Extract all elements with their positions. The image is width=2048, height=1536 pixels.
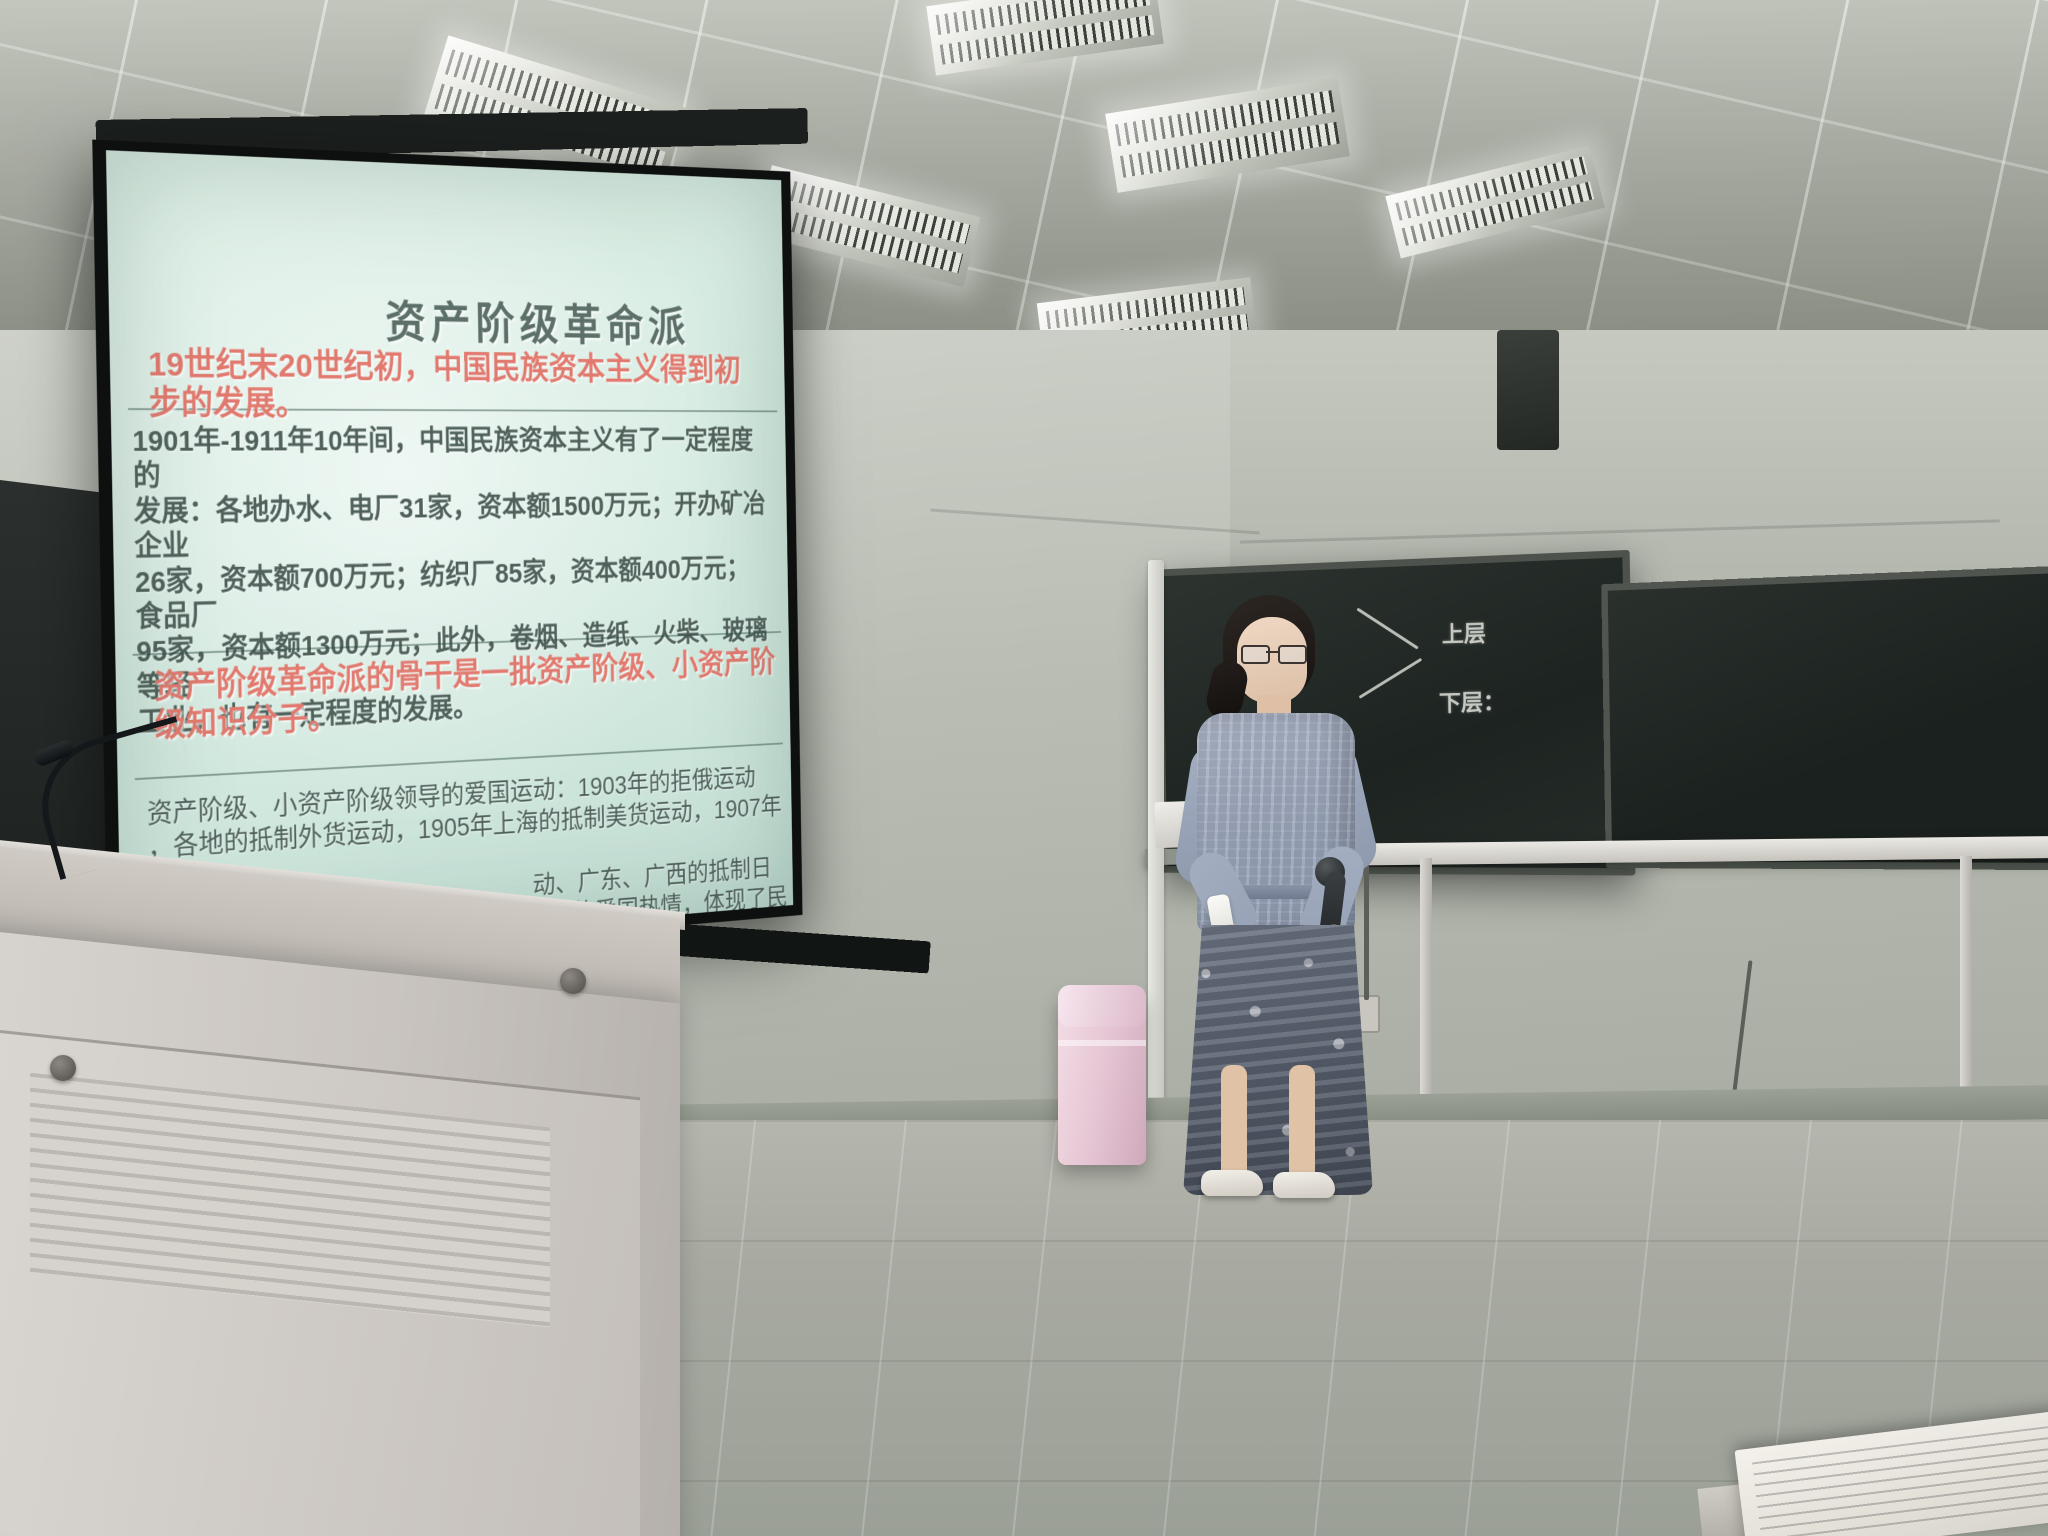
skirt xyxy=(1183,925,1373,1195)
gooseneck-microphone[interactable] xyxy=(40,735,190,855)
stand-pole xyxy=(1148,560,1164,1140)
left-shoe xyxy=(1201,1170,1263,1196)
desk-leg xyxy=(1960,856,1972,1101)
wall-speaker xyxy=(1497,330,1559,450)
slide-content: 资产阶级革命派 19世纪末20世纪初，中国民族资本主义得到初步的发展。 1901… xyxy=(106,150,793,961)
thermos-band xyxy=(1058,1040,1146,1046)
slide-lead-red-text: 19世纪末20世纪初，中国民族资本主义得到初步的发展。 xyxy=(148,346,767,425)
desk-leg xyxy=(1420,858,1432,1108)
classroom-scene: 资产阶级革命派 19世纪末20世纪初，中国民族资本主义得到初步的发展。 1901… xyxy=(0,0,2048,1536)
right-leg xyxy=(1289,1065,1315,1185)
blackboard-chalk-top: 上层 xyxy=(1442,616,1487,650)
blackboard-right xyxy=(1601,565,2048,870)
slide-title: 资产阶级革命派 xyxy=(385,287,691,354)
lectern-knob[interactable] xyxy=(560,968,586,994)
book-text-lines xyxy=(1752,1426,2048,1536)
slide-body-line: 1901年-1911年10年间，中国民族资本主义有了一定程度的 xyxy=(132,425,769,495)
projection-screen: 资产阶级革命派 19世纪末20世纪初，中国民族资本主义得到初步的发展。 1901… xyxy=(92,140,802,975)
right-shoe xyxy=(1273,1172,1335,1198)
blackboard-chalk-bottom: 下层： xyxy=(1439,684,1506,718)
projected-slide: 资产阶级革命派 19世纪末20世纪初，中国民族资本主义得到初步的发展。 1901… xyxy=(106,150,793,961)
left-leg xyxy=(1221,1065,1247,1185)
lectern-knob[interactable] xyxy=(50,1055,76,1081)
glasses-icon xyxy=(1241,645,1303,661)
thermos-cap[interactable] xyxy=(1058,985,1146,1027)
presenter xyxy=(1165,595,1385,1195)
